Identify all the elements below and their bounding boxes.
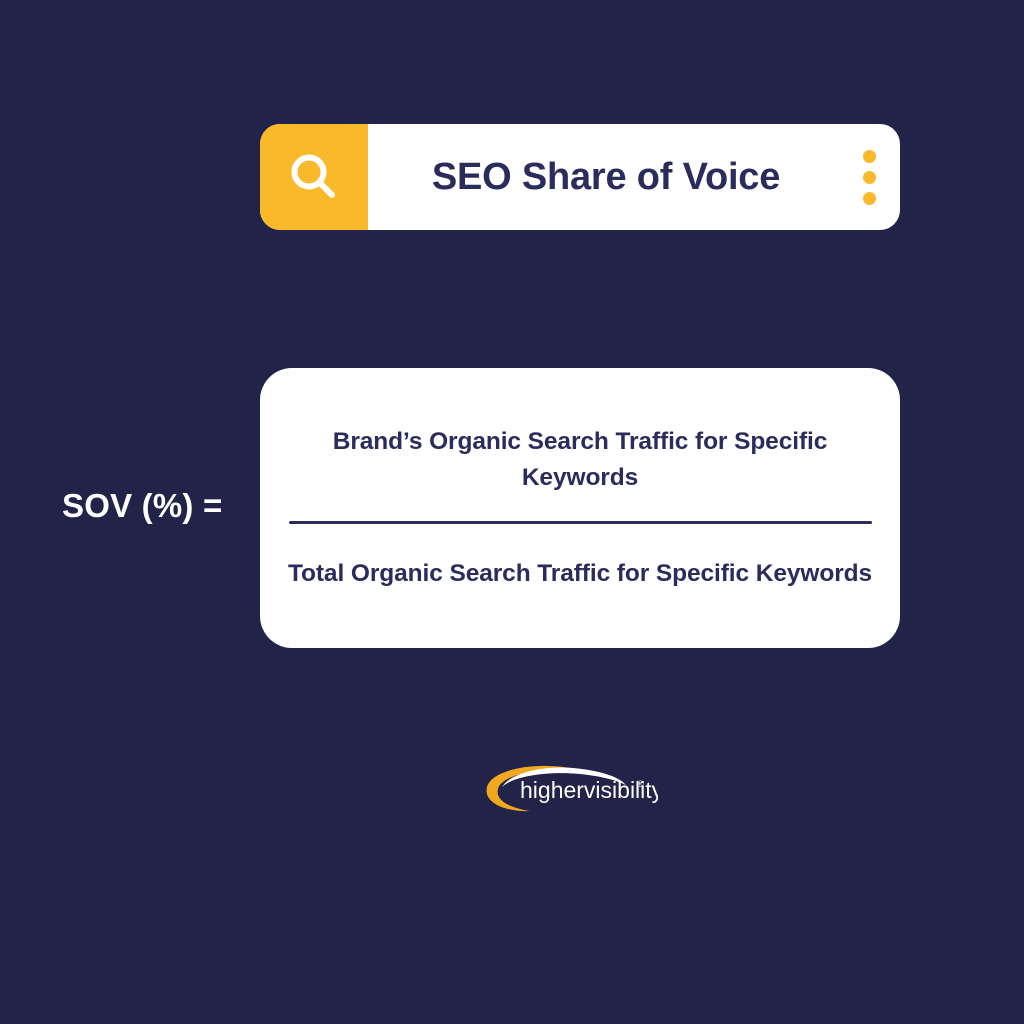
search-icon xyxy=(289,152,339,202)
fraction-numerator: Brand’s Organic Search Traffic for Speci… xyxy=(282,424,878,496)
formula-card: Brand’s Organic Search Traffic for Speci… xyxy=(260,368,900,648)
kebab-menu-icon[interactable] xyxy=(838,124,900,230)
fraction-bar xyxy=(289,521,872,524)
kebab-dot xyxy=(863,192,876,205)
search-icon-button[interactable] xyxy=(260,124,368,230)
sov-formula-label: SOV (%) = xyxy=(62,487,222,525)
kebab-dot xyxy=(863,171,876,184)
highervisibility-logo: highervisibility ® xyxy=(478,760,658,818)
search-title-container: SEO Share of Voice xyxy=(368,124,838,230)
logo-trademark-symbol: ® xyxy=(637,779,644,789)
search-bar[interactable]: SEO Share of Voice xyxy=(260,124,900,230)
kebab-dot xyxy=(863,150,876,163)
fraction-denominator: Total Organic Search Traffic for Specifi… xyxy=(282,556,878,592)
page-title: SEO Share of Voice xyxy=(432,156,780,199)
